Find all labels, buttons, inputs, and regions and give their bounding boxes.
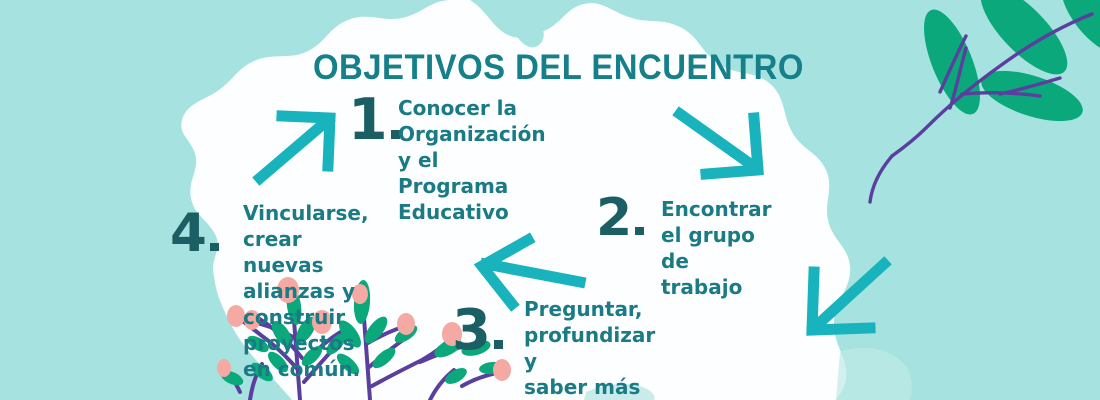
objective-text-1: Conocer la Organización y el Programa Ed… — [398, 95, 546, 225]
objectives-infographic: OBJETIVOS DEL ENCUENTRO 1 Conocer la Org… — [0, 0, 1100, 400]
objective-number-3-value: 3 — [452, 298, 491, 363]
page-title: OBJETIVOS DEL ENCUENTRO — [313, 48, 804, 88]
objective-number-4-value: 4 — [170, 203, 207, 264]
objective-number-2: 2 — [596, 192, 644, 244]
number-dot — [210, 243, 218, 251]
objective-number-1-value: 1 — [348, 87, 388, 153]
objective-text-4: Vincularse, crear nuevas alianzas y cons… — [243, 200, 369, 382]
number-dot — [494, 340, 503, 349]
objective-text-2: Encontrar el grupo de trabajo — [661, 196, 772, 300]
objective-number-4: 4 — [170, 207, 219, 260]
number-dot — [635, 227, 643, 235]
objective-text-3: Preguntar, profundizar y saber más sobre… — [524, 296, 655, 400]
objective-number-2-value: 2 — [596, 188, 632, 248]
objective-number-3: 3 — [452, 303, 503, 359]
objective-number-1: 1 — [348, 92, 400, 149]
